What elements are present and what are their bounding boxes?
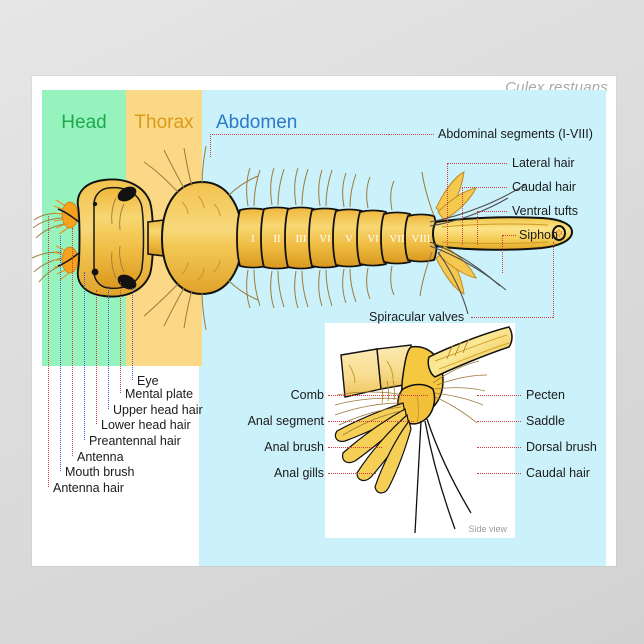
label-abdominal-segments: Abdominal segments (I-VIII) <box>438 128 593 141</box>
lateral-hair-vleader <box>447 163 448 245</box>
inset-caption: Side view <box>468 524 507 534</box>
antenna-vleader <box>72 228 73 456</box>
label-mouth-brush: Mouth brush <box>65 466 134 479</box>
label-anal-segment: Anal segment <box>204 415 324 428</box>
ventral-tufts-leader <box>477 211 507 212</box>
spiracular-valves-leader <box>471 317 553 318</box>
label-antenna: Antenna <box>77 451 124 464</box>
band-thorax-label: Thorax <box>126 112 202 134</box>
label-antenna-hair: Antenna hair <box>53 482 124 495</box>
label-lateral-hair: Lateral hair <box>512 157 575 170</box>
band-thorax: Thorax <box>126 90 202 366</box>
label-anal-gills: Anal gills <box>218 467 324 480</box>
abdominal-segments-leader <box>388 134 434 135</box>
anal-brush-leader <box>328 447 382 448</box>
abdominal-segments-bracket <box>210 134 389 157</box>
comb-leader <box>328 395 428 396</box>
mouth-brush-vleader <box>60 236 61 471</box>
label-dorsal-brush: Dorsal brush <box>526 441 597 454</box>
siphon-leader <box>502 235 516 236</box>
label-spiracular-valves: Spiracular valves <box>369 311 464 324</box>
mental-plate-vleader <box>120 282 121 393</box>
label-preantennal-hair: Preantennal hair <box>89 435 181 448</box>
antenna-hair-vleader <box>48 216 49 487</box>
caudal-hair-inset-leader <box>477 473 521 474</box>
band-head-label: Head <box>42 112 126 134</box>
siphon-vleader <box>502 235 503 273</box>
label-ventral-tufts: Ventral tufts <box>512 205 578 218</box>
dorsal-brush-leader <box>477 447 521 448</box>
side-view-inset: Side view <box>325 323 515 538</box>
label-lower-head-hair: Lower head hair <box>101 419 191 432</box>
label-comb: Comb <box>220 389 324 402</box>
caudal-hair-vleader <box>462 187 463 245</box>
saddle-leader <box>477 421 521 422</box>
upper-head-hair-vleader <box>108 286 109 409</box>
label-eye: Eye <box>137 375 159 388</box>
eye-vleader <box>132 288 133 380</box>
label-mental-plate: Mental plate <box>125 388 193 401</box>
label-caudal-hair: Caudal hair <box>512 181 576 194</box>
pecten-leader <box>477 395 521 396</box>
label-siphon: Siphon <box>519 229 558 242</box>
ventral-tufts-vleader <box>477 211 478 245</box>
label-saddle: Saddle <box>526 415 565 428</box>
label-caudal-hair-inset: Caudal hair <box>526 467 590 480</box>
larva-side-illustration <box>325 323 515 538</box>
preantennal-hair-vleader <box>84 272 85 440</box>
label-pecten: Pecten <box>526 389 565 402</box>
label-anal-brush: Anal brush <box>212 441 324 454</box>
spiracular-valves-vleader <box>553 242 554 318</box>
caudal-hair-leader <box>462 187 507 188</box>
poster-background: Culex restuans Head Thorax Abdomen <box>0 0 644 644</box>
lateral-hair-leader <box>447 163 507 164</box>
label-upper-head-hair: Upper head hair <box>113 404 203 417</box>
anal-gills-leader <box>328 473 376 474</box>
band-abdomen-label: Abdomen <box>202 112 297 134</box>
lower-head-hair-vleader <box>96 290 97 424</box>
diagram-card: Culex restuans Head Thorax Abdomen <box>32 76 616 566</box>
anal-segment-leader <box>328 421 414 422</box>
